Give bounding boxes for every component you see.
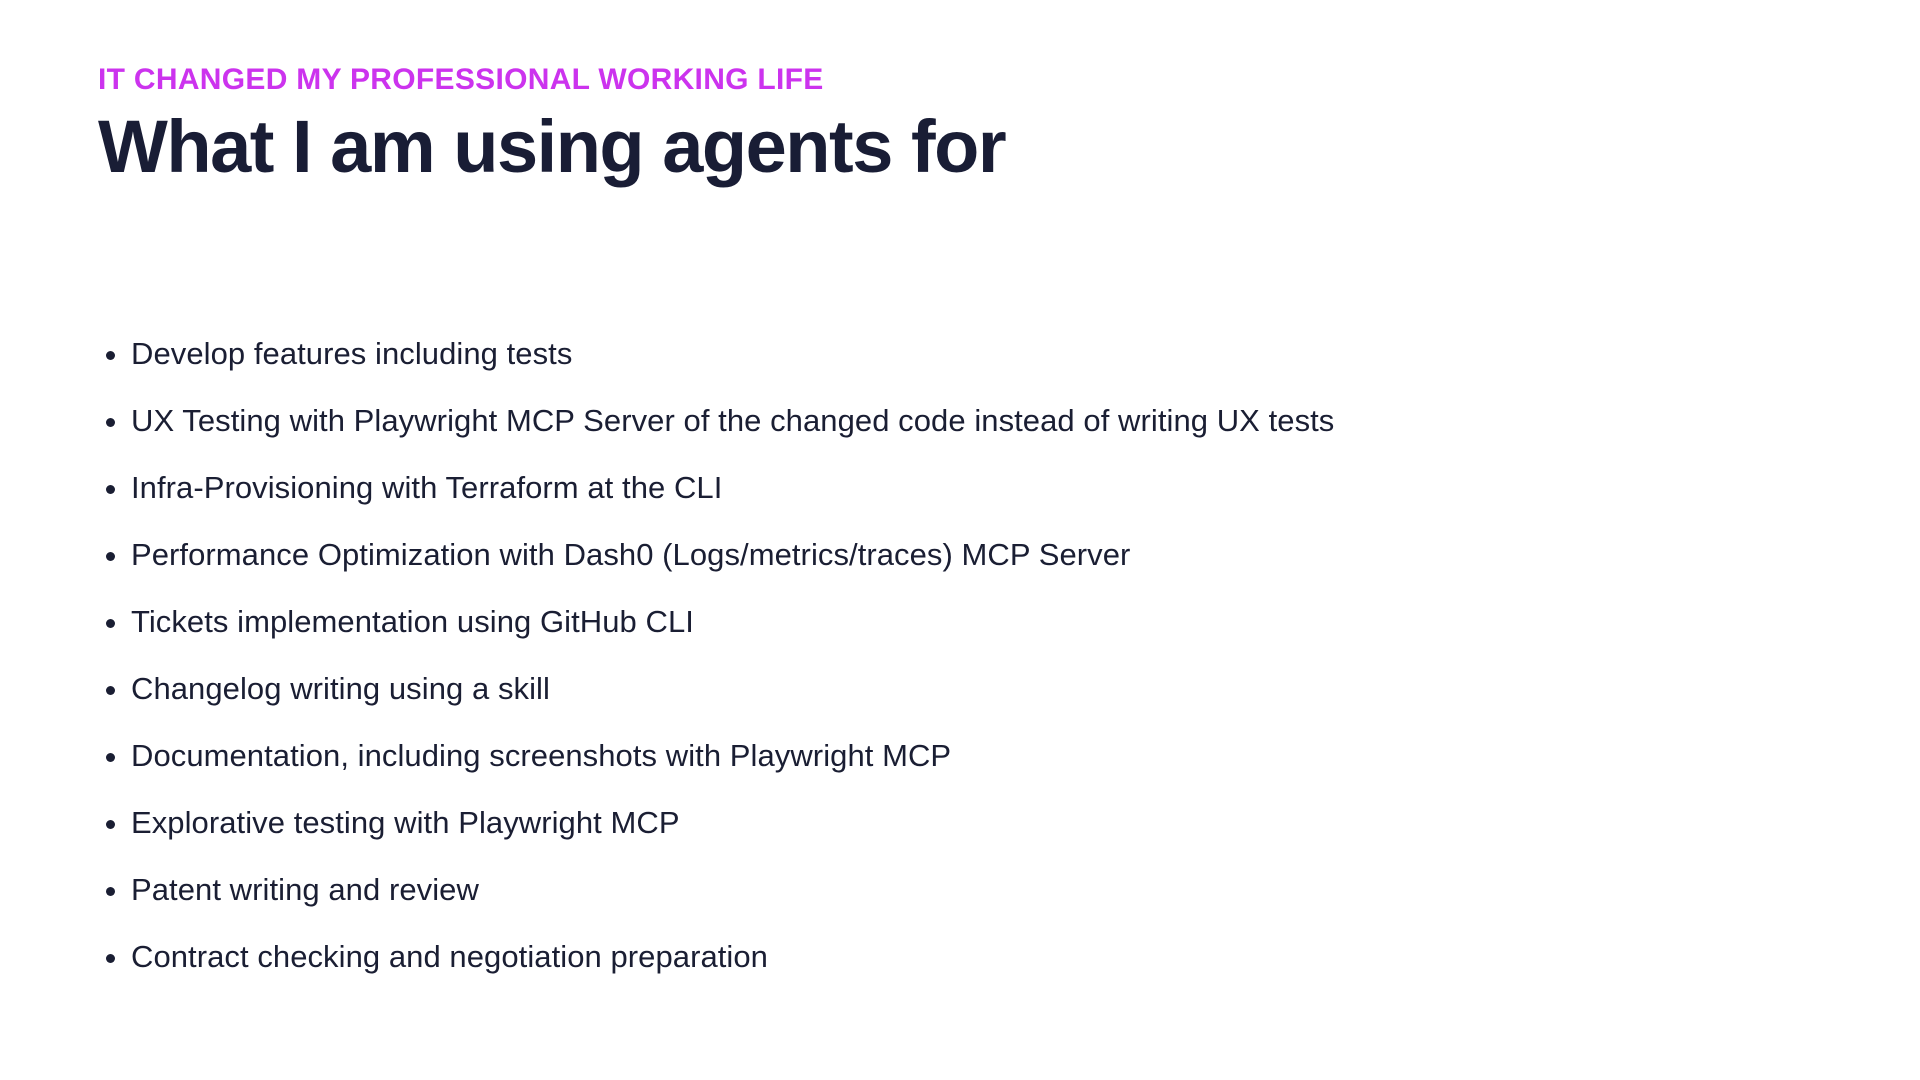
list-item-label: Explorative testing with Playwright MCP [131,805,680,840]
list-item-label: Contract checking and negotiation prepar… [131,939,768,974]
list-item-label: Develop features including tests [131,336,572,371]
list-item: Explorative testing with Playwright MCP [98,802,1880,844]
slide-eyebrow: IT CHANGED MY PROFESSIONAL WORKING LIFE [98,62,1860,98]
list-item-label: Infra-Provisioning with Terraform at the… [131,470,722,505]
list-item: Performance Optimization with Dash0 (Log… [98,534,1880,576]
list-item: Documentation, including screenshots wit… [98,735,1880,777]
bullet-dot-icon [106,753,115,762]
bullet-dot-icon [106,686,115,695]
list-item: Patent writing and review [98,869,1880,911]
list-item-label: Patent writing and review [131,872,479,907]
bullet-dot-icon [106,619,115,628]
bullet-dot-icon [106,887,115,896]
list-item-label: Changelog writing using a skill [131,671,550,706]
bullet-dot-icon [106,351,115,360]
list-item: Changelog writing using a skill [98,668,1880,710]
agent-usecase-list: Develop features including tests UX Test… [98,333,1880,978]
bullet-dot-icon [106,552,115,561]
list-item: Tickets implementation using GitHub CLI [98,601,1880,643]
presentation-slide: IT CHANGED MY PROFESSIONAL WORKING LIFE … [0,0,1920,1080]
bullet-dot-icon [106,820,115,829]
bullet-dot-icon [106,418,115,427]
bullet-dot-icon [106,954,115,963]
list-item: UX Testing with Playwright MCP Server of… [98,400,1880,442]
slide-content-column: IT CHANGED MY PROFESSIONAL WORKING LIFE … [98,0,1860,190]
list-item: Develop features including tests [98,333,1880,375]
list-item: Infra-Provisioning with Terraform at the… [98,467,1880,509]
slide-title: What I am using agents for [98,104,1860,190]
list-item-label: Performance Optimization with Dash0 (Log… [131,537,1130,572]
list-item-label: UX Testing with Playwright MCP Server of… [131,403,1334,438]
list-item-label: Documentation, including screenshots wit… [131,738,951,773]
list-item-label: Tickets implementation using GitHub CLI [131,604,694,639]
list-item: Contract checking and negotiation prepar… [98,936,1880,978]
bullet-dot-icon [106,485,115,494]
slide-header: IT CHANGED MY PROFESSIONAL WORKING LIFE … [98,0,1860,190]
